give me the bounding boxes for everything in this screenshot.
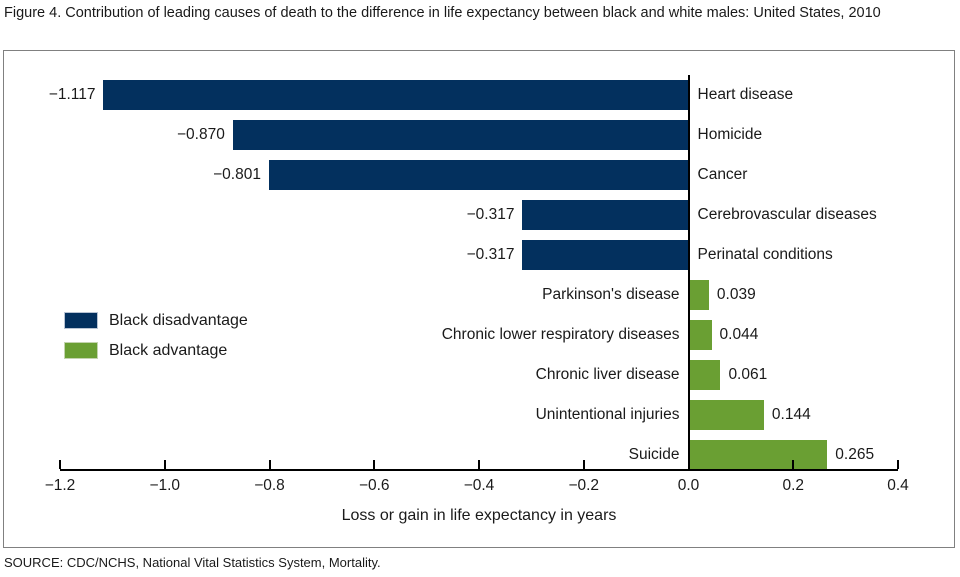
x-axis-tick [688,460,690,469]
bar-value-label: −0.870 [73,120,225,150]
bar-row: 0.144Unintentional injuries [4,400,954,430]
bar-value-label: −1.117 [0,80,95,110]
x-axis-tick [897,460,899,469]
x-axis-tick-label: 0.2 [753,477,833,495]
x-axis-tick [269,460,271,469]
source-note: SOURCE: CDC/NCHS, National Vital Statist… [4,555,381,570]
x-axis-tick-label: −1.2 [20,477,100,495]
bar-pos[interactable] [689,400,764,430]
legend-swatch-negative-icon [64,312,98,329]
bar-neg[interactable] [233,120,689,150]
bar-value-label: 0.044 [720,320,880,350]
legend-label-black-disadvantage: Black disadvantage [109,306,248,336]
bar-neg[interactable] [522,240,688,270]
bar-category-label: Suicide [380,440,680,470]
bar-neg[interactable] [522,200,688,230]
bar-row: −1.117Heart disease [4,80,954,110]
bar-neg[interactable] [103,80,688,110]
legend-swatch-positive-icon [64,342,98,359]
x-axis-tick-label: −1.0 [125,477,205,495]
bar-value-label: −0.801 [109,160,261,190]
bar-pos[interactable] [689,320,712,350]
bar-value-label: −0.317 [362,200,514,230]
x-axis-tick [164,460,166,469]
x-axis-line [60,469,898,471]
bar-value-label: 0.061 [728,360,888,390]
bar-row: −0.317Cerebrovascular diseases [4,200,954,230]
chart-frame: −1.117Heart disease−0.870Homicide−0.801C… [3,50,955,548]
bar-category-label: Perinatal conditions [698,240,960,270]
legend-label-black-advantage: Black advantage [109,336,227,366]
x-axis-tick-label: −0.6 [334,477,414,495]
zero-axis-line [688,75,690,470]
x-axis-tick-label: −0.8 [230,477,310,495]
bar-value-label: −0.317 [362,240,514,270]
bar-category-label: Chronic liver disease [380,360,680,390]
bar-category-label: Unintentional injuries [380,400,680,430]
bar-neg[interactable] [269,160,689,190]
bar-category-label: Cerebrovascular diseases [698,200,960,230]
bar-row: −0.870Homicide [4,120,954,150]
x-axis-tick [373,460,375,469]
bar-category-label: Heart disease [698,80,960,110]
x-axis-tick [59,460,61,469]
bar-value-label: 0.039 [717,280,877,310]
x-axis-tick [478,460,480,469]
bar-pos[interactable] [689,280,709,310]
bar-row: −0.801Cancer [4,160,954,190]
bar-value-label: 0.144 [772,400,932,430]
plot-area: −1.117Heart disease−0.870Homicide−0.801C… [4,51,954,547]
x-axis-tick-label: 0.4 [858,477,938,495]
x-axis-tick [583,460,585,469]
x-axis-tick-label: −0.4 [439,477,519,495]
bar-category-label: Chronic lower respiratory diseases [380,320,680,350]
bar-pos[interactable] [689,360,721,390]
x-axis-title: Loss or gain in life expectancy in years [4,507,954,525]
bar-pos[interactable] [689,440,828,470]
x-axis-tick-label: 0.0 [649,477,729,495]
bar-category-label: Parkinson's disease [380,280,680,310]
bar-category-label: Cancer [698,160,960,190]
bar-row: −0.317Perinatal conditions [4,240,954,270]
x-axis-tick-label: −0.2 [544,477,624,495]
x-axis-tick [792,460,794,469]
bar-category-label: Homicide [698,120,960,150]
figure-caption: Figure 4. Contribution of leading causes… [4,3,954,23]
